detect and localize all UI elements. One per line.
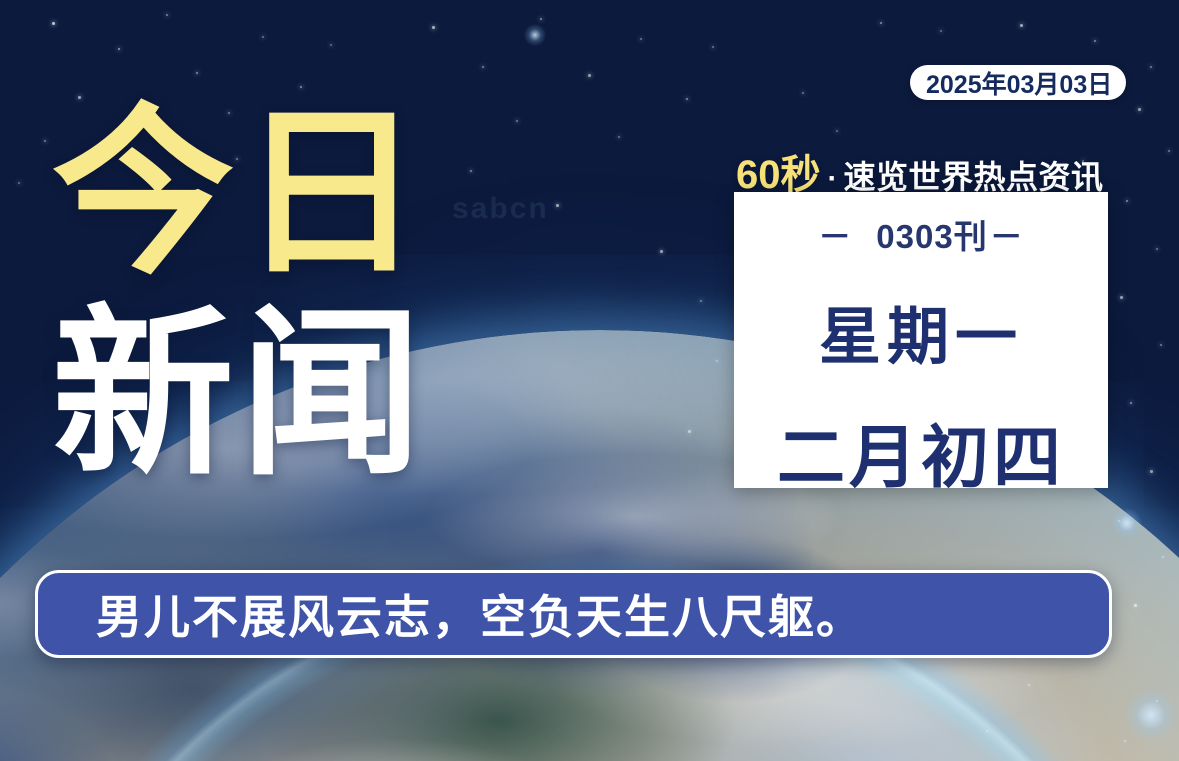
lunar-date-label: 二月初四 xyxy=(777,402,1065,501)
title-line-xinwen: 新闻 xyxy=(52,297,472,492)
issue-number: 0303刊 xyxy=(876,210,987,258)
date-badge: 2025年03月03日 xyxy=(910,65,1126,100)
issue-dash-right: － xyxy=(990,210,1024,258)
date-badge-label: 2025年03月03日 xyxy=(926,65,1112,101)
quote-banner: 男儿不展风云志，空负天生八尺躯。 xyxy=(35,570,1112,658)
tagline-separator: · xyxy=(828,162,838,196)
weekday-label: 星期一 xyxy=(819,286,1023,376)
issue-dash-left: － xyxy=(818,210,852,258)
issue-row: － 0303刊 － xyxy=(816,210,1025,258)
poster-title: 今日 新闻 xyxy=(52,96,472,491)
quote-text: 男儿不展风云志，空负天生八尺躯。 xyxy=(96,581,864,647)
day-card: － 0303刊 － 星期一 二月初四 xyxy=(734,192,1108,488)
title-line-jinri: 今日 xyxy=(52,96,472,291)
news-poster: sabcn 今日 新闻 2025年03月03日 60秒 · 速览世界热点资讯 －… xyxy=(0,0,1179,761)
